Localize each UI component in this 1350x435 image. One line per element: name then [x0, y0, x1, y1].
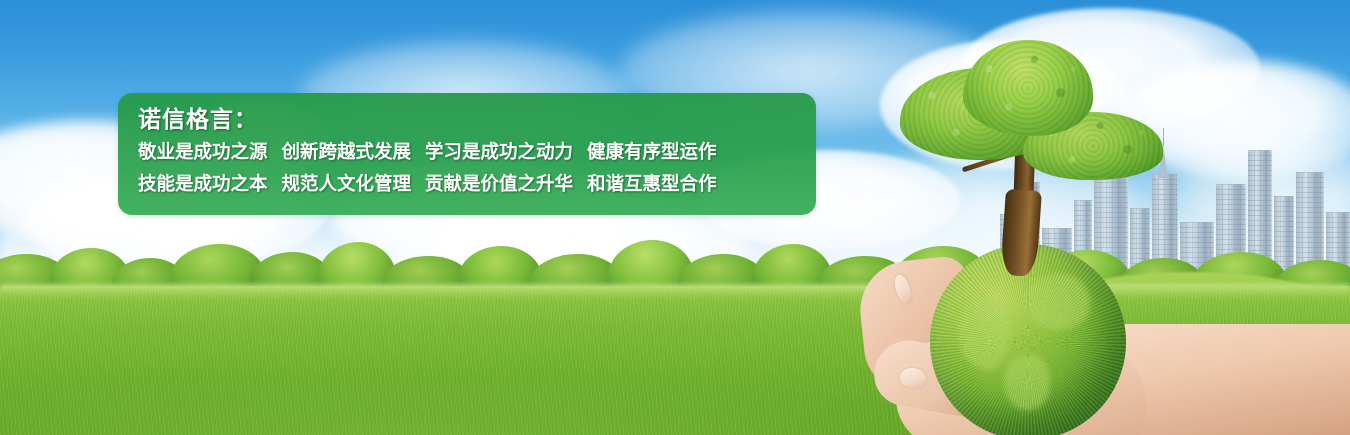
- motto-line-2: 技能是成功之本规范人文化管理贡献是价值之升华和谐互惠型合作: [138, 168, 802, 200]
- motto-phrase: 创新跨越式发展: [282, 141, 412, 162]
- motto-title: 诺信格言：: [138, 102, 802, 136]
- motto-phrase: 敬业是成功之源: [138, 141, 268, 162]
- motto-panel: 诺信格言： 敬业是成功之源创新跨越式发展学习是成功之动力健康有序型运作 技能是成…: [118, 93, 816, 215]
- motto-phrase: 和谐互惠型合作: [587, 173, 717, 194]
- tree-trunk-base: [1000, 189, 1042, 277]
- bonsai-tree: [905, 40, 1165, 270]
- motto-line-1: 敬业是成功之源创新跨越式发展学习是成功之动力健康有序型运作: [138, 136, 802, 168]
- motto-phrase: 贡献是价值之升华: [425, 173, 573, 194]
- motto-phrase: 技能是成功之本: [138, 173, 268, 194]
- eco-banner: 诺信格言： 敬业是成功之源创新跨越式发展学习是成功之动力健康有序型运作 技能是成…: [0, 0, 1350, 435]
- motto-phrase: 健康有序型运作: [587, 141, 717, 162]
- tree-canopy: [963, 40, 1093, 136]
- motto-phrase: 学习是成功之动力: [425, 141, 573, 162]
- motto-phrase: 规范人文化管理: [282, 173, 412, 194]
